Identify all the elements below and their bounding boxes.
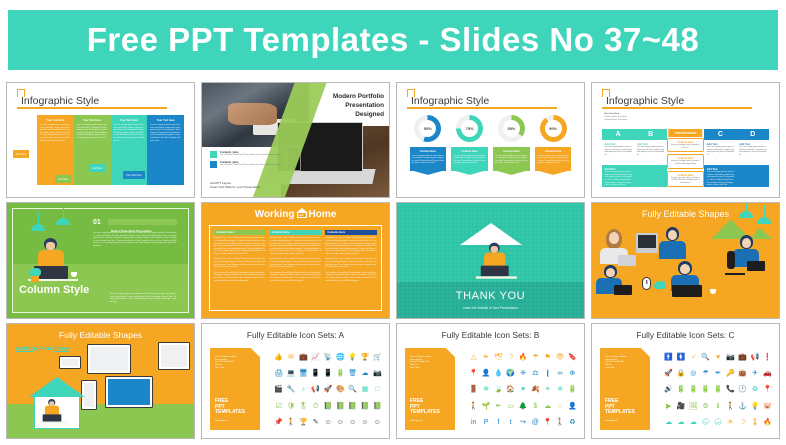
- comparison-columns: A Add Text You can simply impress your a…: [602, 129, 769, 187]
- smiley-icon[interactable]: ☺: [373, 418, 381, 426]
- title-word-working: Working: [255, 209, 295, 220]
- search-icon[interactable]: 🔍: [349, 386, 357, 394]
- slide-46-canvas: Fully Editable Icon Sets: A You can Resi…: [202, 324, 389, 438]
- settings-icon[interactable]: ⚙: [702, 402, 710, 410]
- slide-40-title: Infographic Style: [606, 95, 684, 107]
- snow-cloud-icon[interactable]: 🌨: [714, 418, 722, 426]
- slide-thumbnail-44[interactable]: Fully Editable Shapes: [591, 202, 780, 318]
- column-text: You can simply impress your audience and…: [605, 146, 632, 156]
- battery-icon[interactable]: 🔋: [689, 386, 697, 394]
- moon-icon[interactable]: ☽: [739, 418, 747, 426]
- ribbon-card: Content Here You can simply impress your…: [493, 147, 530, 171]
- laptop-device-icon: [59, 356, 81, 369]
- brand-line: TEMPLATES: [410, 410, 440, 416]
- rocket-icon[interactable]: 🚀: [324, 386, 332, 394]
- compass-icon[interactable]: △: [470, 353, 478, 361]
- pen-icon[interactable]: ✒: [714, 370, 722, 378]
- coffee-cup-icon: [710, 289, 716, 294]
- slide-thumbnail-39[interactable]: Infographic Style 55% Content Here You c…: [396, 82, 585, 198]
- person-face: [609, 232, 619, 244]
- center-card[interactable]: Content Here Easy to change colors, phot…: [667, 154, 704, 168]
- column-text: You can simply impress your audience and…: [637, 146, 664, 156]
- donut-chart: 90%: [540, 115, 567, 142]
- desk-surface: [40, 421, 68, 422]
- shopping-cart-icon[interactable]: 🛒: [373, 353, 381, 361]
- monitor-icon: [636, 233, 658, 253]
- battery-icon[interactable]: 🔋: [336, 370, 344, 378]
- person-icon[interactable]: 🚶: [556, 418, 564, 426]
- scales-icon[interactable]: ⚖: [531, 370, 539, 378]
- pencil-icon[interactable]: ✎: [312, 418, 320, 426]
- cloud-icon[interactable]: ☁: [689, 418, 697, 426]
- globe-icon[interactable]: 🌍: [507, 370, 515, 378]
- column-paragraph: Example Text : Get a modern PowerPoint P…: [325, 258, 377, 268]
- title-underline: [407, 107, 557, 109]
- network-icon[interactable]: ✵: [556, 386, 564, 394]
- column-body: You can simply impress your audience and…: [150, 124, 181, 142]
- infographic-column[interactable]: Your Text Here You can simply impress yo…: [147, 115, 184, 185]
- cloud-icon[interactable]: ☁: [361, 370, 369, 378]
- comparison-column-c[interactable]: C Add Text You can simply impress your a…: [704, 129, 736, 187]
- header-banner: Free PPT Templates - Slides No 37~48: [8, 10, 778, 70]
- person-at-laptop-illustration: [31, 238, 79, 290]
- column-tag: Text Here: [89, 164, 105, 172]
- slide-43-canvas: THANK YOU Insert the Subtitle of Your Pr…: [397, 203, 584, 317]
- flag-icon[interactable]: ⚑: [544, 353, 552, 361]
- column-text: You can simply impress your audience and…: [739, 146, 766, 156]
- camera-icon[interactable]: 📷: [373, 370, 381, 378]
- briefcase-icon[interactable]: 💼: [299, 353, 307, 361]
- phone-icon[interactable]: 📞: [726, 386, 734, 394]
- donut-item[interactable]: 55% Content Here You can simply impress …: [410, 115, 447, 171]
- plus-circle-icon[interactable]: ⊕: [568, 370, 576, 378]
- folded-corner-shape: [445, 348, 455, 358]
- square-icon[interactable]: □: [373, 386, 381, 394]
- plant-icon[interactable]: 🌱: [482, 402, 490, 410]
- dollar-icon[interactable]: $: [531, 402, 539, 410]
- column-bottom-block: Add Text You can simply impress your aud…: [602, 165, 634, 187]
- book-icon[interactable]: 📗: [324, 402, 332, 410]
- share-icon[interactable]: ↪: [519, 418, 527, 426]
- search-icon[interactable]: 🔍: [702, 353, 710, 361]
- user-icon[interactable]: 👤: [568, 402, 576, 410]
- heart-icon[interactable]: ♥: [519, 386, 527, 394]
- linkedin-icon[interactable]: in: [470, 418, 478, 426]
- wfh-word-working: Working: [15, 346, 37, 352]
- male-symbol-icon[interactable]: ♂: [689, 353, 697, 361]
- sun-icon[interactable]: ☀: [726, 418, 734, 426]
- column-letter: A: [602, 129, 634, 140]
- recycle-icon[interactable]: ♻: [751, 386, 759, 394]
- working-from-home-label: Working From Home: [15, 346, 70, 352]
- slide-thumbnail-47[interactable]: Fully Editable Icon Sets: B You can Resi…: [396, 323, 585, 439]
- slide-thumbnail-42[interactable]: WorkingFromHome Contents Here Example Te…: [201, 202, 390, 318]
- eye-icon[interactable]: 👁: [556, 353, 564, 361]
- card-icon[interactable]: ▭: [507, 402, 515, 410]
- slide-41-body: You can simply impress your audience and…: [93, 232, 177, 248]
- smiley-icon[interactable]: ☺: [349, 418, 357, 426]
- column-heading: Your Text Here: [114, 119, 145, 122]
- slide-thumbnail-38[interactable]: Modern Portfolio Presentation Designed C…: [201, 82, 390, 198]
- brand-url: www.allppt.com: [215, 420, 227, 422]
- ribbon-heading: Content Here: [412, 150, 445, 153]
- pillar-icon[interactable]: ❙: [544, 370, 552, 378]
- column-tag: Contents Here: [214, 230, 266, 235]
- office-chair-icon: [727, 251, 749, 275]
- table-note: Your Text Here Content Here Text Here Co…: [604, 113, 671, 122]
- comparison-table: Your Text Here Content Here Text Here Co…: [602, 113, 769, 187]
- megaphone-icon[interactable]: 📢: [312, 386, 320, 394]
- bookmark-icon[interactable]: 🔖: [568, 353, 576, 361]
- slide-37-title: Infographic Style: [21, 95, 99, 107]
- person-woman-laptop: [598, 229, 632, 269]
- battery-icon[interactable]: 🔋: [568, 386, 576, 394]
- person-glasses-laptop: [668, 261, 706, 299]
- megaphone-icon[interactable]: 📢: [751, 353, 759, 361]
- droplet-icon[interactable]: 💧: [494, 370, 502, 378]
- tv-device-icon: [105, 376, 153, 408]
- title-underline: [602, 107, 752, 109]
- music-icon[interactable]: ♪: [299, 386, 307, 394]
- book-icon[interactable]: 📗: [336, 402, 344, 410]
- slide-thumbnail-40[interactable]: Infographic Style Your Text Here Content…: [591, 82, 780, 198]
- ribbon-heading: Content Here: [453, 150, 486, 153]
- person-at-laptop-illustration: [41, 399, 67, 428]
- person-body: [38, 250, 64, 268]
- smiley-icon[interactable]: ☺: [324, 418, 332, 426]
- slide-46-title: Fully Editable Icon Sets: A: [202, 330, 389, 340]
- donut-item[interactable]: 35% Content Here You can simply impress …: [493, 115, 530, 171]
- thumbs-up-icon[interactable]: 👍: [275, 353, 283, 361]
- feature-row: Contents_Here Get a Modern PowerPoint Pr…: [210, 151, 300, 158]
- slide-41-title: Column Style: [19, 284, 89, 296]
- tools-icon[interactable]: 🔧: [287, 386, 295, 394]
- slide-thumbnail-grid: Infographic Style Your Text Here You can…: [6, 82, 780, 439]
- target-icon[interactable]: ◎: [689, 370, 697, 378]
- ribbon-body: You can simply impress your audience and…: [412, 155, 445, 165]
- slide-thumbnail-46[interactable]: Fully Editable Icon Sets: A You can Resi…: [201, 323, 390, 439]
- plant-icon: [29, 268, 41, 282]
- book-icon[interactable]: 📗: [361, 402, 369, 410]
- slide-44-canvas: Fully Editable Shapes: [592, 203, 779, 317]
- person-icon[interactable]: 🚶: [287, 418, 295, 426]
- slide-45-canvas: Fully Editable Shapes Working From Home: [7, 324, 194, 438]
- column-paragraph: Get a modern PowerPoint Presentation tha…: [214, 272, 266, 282]
- lamp-icon[interactable]: 💡: [751, 402, 759, 410]
- person-face: [490, 246, 497, 253]
- pendant-lamp-icon: [739, 211, 753, 218]
- donut-chart: 55%: [414, 115, 441, 142]
- thermometer-icon[interactable]: 🌡: [751, 418, 759, 426]
- slide-number-label: 01: [93, 219, 101, 226]
- monitor-icon[interactable]: 🖥: [299, 370, 307, 378]
- leaf-icon[interactable]: 🍂: [531, 386, 539, 394]
- man-icon[interactable]: 🚹: [665, 353, 673, 361]
- column-letter: C: [704, 129, 736, 140]
- ribbon-body: You can simply impress your audience and…: [495, 155, 528, 165]
- laptop-icon: [43, 414, 62, 421]
- flame-icon[interactable]: 🔥: [519, 353, 527, 361]
- column-paragraph: Example Text : Get a modern PowerPoint P…: [270, 258, 322, 268]
- slide-41-canvas: 01 Modern PowerPoint Presentation You ca…: [7, 203, 194, 317]
- info-panel: You can Resize without losing quality Yo…: [600, 348, 650, 430]
- egg-icon[interactable]: ○: [556, 402, 564, 410]
- recycle-icon[interactable]: ♻: [568, 418, 576, 426]
- card-body: Easy to change colors, photos and Text.: [671, 144, 700, 149]
- chart-icon[interactable]: 📈: [312, 353, 320, 361]
- rain-cloud-icon[interactable]: 🌧: [702, 418, 710, 426]
- slide-38-canvas: Modern Portfolio Presentation Designed C…: [202, 83, 389, 197]
- info-icon[interactable]: ℹ: [714, 402, 722, 410]
- donut-item[interactable]: 90% Content Here You can simply impress …: [535, 115, 572, 171]
- column-text: You can simply impress your audience and…: [707, 146, 734, 156]
- column-body: You can simply impress your audience and…: [77, 124, 108, 140]
- book-icon[interactable]: 📗: [349, 402, 357, 410]
- play-icon[interactable]: ▶: [665, 402, 673, 410]
- trophy-icon[interactable]: 🏆: [361, 353, 369, 361]
- checkbox-icon[interactable]: ☑: [275, 402, 283, 410]
- pin-icon[interactable]: 📌: [275, 418, 283, 426]
- slide-37-canvas: Infographic Style Your Text Here You can…: [11, 87, 190, 193]
- palette-icon[interactable]: 🎨: [336, 386, 344, 394]
- map-pin-icon[interactable]: 📍: [544, 418, 552, 426]
- person-man-desktop: [658, 227, 688, 265]
- moon-icon[interactable]: ☽: [507, 353, 515, 361]
- card-body: Easy to change colors, photos and Text a…: [671, 160, 700, 165]
- trash-icon[interactable]: 🗑: [349, 370, 357, 378]
- car-icon[interactable]: 🚗: [763, 370, 771, 378]
- infinity-icon[interactable]: ∞: [556, 370, 564, 378]
- roof-shape: [454, 219, 528, 245]
- feature-list: Contents_Here Get a Modern PowerPoint Pr…: [210, 151, 300, 171]
- slide-thumbnail-41[interactable]: 01 Modern PowerPoint Presentation You ca…: [6, 202, 195, 318]
- icon-grid-b: △✒🕊☽🔥☂⚑👁🔖📍👤💧🌍❈⚖❙∞⊕🚪❄🍃🏠♥🍂☀✵🔋🚶🌱✒▭🌲$☁○👤inPf…: [468, 350, 578, 430]
- slide-thumbnail-43[interactable]: THANK YOU Insert the Subtitle of Your Pr…: [396, 202, 585, 318]
- grid-icon[interactable]: ▦: [361, 386, 369, 394]
- cloud-icon[interactable]: ☁: [544, 402, 552, 410]
- ribbon-body: You can simply impress your audience and…: [537, 155, 570, 165]
- sun-icon[interactable]: ☀: [544, 386, 552, 394]
- column-letter: D: [737, 129, 769, 140]
- slide-47-canvas: Fully Editable Icon Sets: B You can Resi…: [397, 324, 584, 438]
- pinterest-icon[interactable]: P: [482, 418, 490, 426]
- alert-icon[interactable]: ❗: [763, 353, 771, 361]
- phone-icon[interactable]: 📱: [324, 370, 332, 378]
- text-column[interactable]: Contents Here Example Text : Get a moder…: [214, 230, 266, 305]
- person-office-chair: [731, 235, 767, 279]
- laptop-icon: [672, 285, 702, 297]
- desk-surface: [476, 276, 517, 278]
- slide-38-footer: ALLPPT Layout Clean Text Slide for your …: [210, 181, 260, 190]
- person-icon[interactable]: 🚶: [726, 402, 734, 410]
- person-man-laptop: [596, 265, 632, 299]
- flame-icon[interactable]: 🔥: [763, 418, 771, 426]
- column-bottom-block: [634, 165, 666, 187]
- globe-icon[interactable]: 🌐: [336, 353, 344, 361]
- lightbulb-icon[interactable]: 💡: [349, 353, 357, 361]
- slide-39-canvas: Infographic Style 55% Content Here You c…: [401, 87, 580, 193]
- donut-chart-row: 55% Content Here You can simply impress …: [407, 115, 574, 171]
- column-paragraph: Example Text : Get a modern PowerPoint P…: [214, 237, 266, 255]
- house-illustration: [29, 377, 85, 429]
- comparison-column-b[interactable]: B Add Text You can simply impress your a…: [634, 129, 666, 187]
- section-bar: Modern PowerPoint Presentation: [108, 219, 177, 225]
- thank-you-title: THANK YOU: [397, 290, 584, 302]
- column-body-block: Add Text You can simply impress your aud…: [737, 140, 769, 159]
- head-icon[interactable]: 👤: [482, 370, 490, 378]
- brand-line: TEMPLATES: [605, 410, 635, 416]
- person-face: [742, 238, 751, 248]
- folded-corner-shape: [250, 348, 260, 358]
- video-icon[interactable]: 🎥: [677, 402, 685, 410]
- brand-line: TEMPLATES: [215, 410, 245, 416]
- smiley-icon[interactable]: ☺: [361, 418, 369, 426]
- person-icon[interactable]: 🚶: [470, 402, 478, 410]
- book-icon[interactable]: 📗: [373, 402, 381, 410]
- woman-icon[interactable]: 🚺: [677, 353, 685, 361]
- person-face: [606, 268, 615, 277]
- column-tag: Contents Here: [270, 230, 322, 235]
- tree-icon[interactable]: 🌲: [519, 402, 527, 410]
- location-pin-icon[interactable]: 📍: [470, 370, 478, 378]
- slide-45-title: Fully Editable Shapes: [7, 330, 194, 340]
- facebook-icon[interactable]: f: [494, 418, 502, 426]
- map-pin-icon[interactable]: 📍: [763, 386, 771, 394]
- shield-icon[interactable]: 🛡: [287, 402, 295, 410]
- battery-icon[interactable]: 🔋: [714, 386, 722, 394]
- text-column[interactable]: Contents Here Example Text : Get a moder…: [325, 230, 377, 305]
- center-card[interactable]: Content Here Easy to change colors, phot…: [667, 171, 704, 188]
- clock-icon[interactable]: 🕐: [739, 386, 747, 394]
- page-title: Free PPT Templates - Slides No 37~48: [87, 21, 700, 59]
- donut-chart: 35%: [498, 115, 525, 142]
- title-underline: [17, 107, 167, 109]
- anchor-icon[interactable]: ⚓: [739, 402, 747, 410]
- slide-thumbnail-37[interactable]: Infographic Style Your Text Here You can…: [6, 82, 195, 198]
- feather-icon[interactable]: ✒: [482, 353, 490, 361]
- comparison-column-d[interactable]: D Add Text You can simply impress your a…: [737, 129, 769, 187]
- column-paragraph: Get a modern PowerPoint Presentation tha…: [325, 272, 377, 282]
- leaf-icon[interactable]: 🍃: [494, 386, 502, 394]
- infographic-column[interactable]: Your Text Here You can simply impress yo…: [74, 115, 111, 185]
- text-column[interactable]: Contents Here Example Text : Get a moder…: [270, 230, 322, 305]
- award-icon[interactable]: 🎖: [299, 402, 307, 410]
- house-icon-label: From: [298, 214, 304, 217]
- slide-42-canvas: WorkingFromHome Contents Here Example Te…: [202, 203, 389, 317]
- column-tag: Your Text Here: [123, 171, 145, 179]
- signal-icon[interactable]: 📡: [324, 353, 332, 361]
- briefcase-icon[interactable]: 💼: [739, 353, 747, 361]
- panel-text: You can Resize without losing quality Yo…: [215, 356, 248, 371]
- person-face: [668, 230, 677, 240]
- cloud-icon[interactable]: ☁: [677, 418, 685, 426]
- door-icon[interactable]: 🚪: [470, 386, 478, 394]
- feature-desc: Get a Modern PowerPoint Presentation tha…: [220, 154, 279, 157]
- donut-item[interactable]: 75% Content Here You can simply impress …: [451, 115, 488, 171]
- image-icon[interactable]: 🖼: [689, 402, 697, 410]
- center-card[interactable]: Content Here Easy to change colors, phot…: [667, 138, 704, 152]
- smiley-icon[interactable]: ☺: [336, 418, 344, 426]
- rocket-icon[interactable]: 🚀: [665, 370, 673, 378]
- at-icon[interactable]: @: [531, 418, 539, 426]
- donut-percent: 55%: [424, 126, 432, 131]
- ribbon-card: Content Here You can simply impress your…: [410, 147, 447, 171]
- camera-icon[interactable]: 📷: [726, 353, 734, 361]
- battery-icon[interactable]: 🔋: [702, 386, 710, 394]
- slide-42-title: WorkingFromHome: [202, 208, 389, 220]
- wfh-word-home: Home: [54, 346, 70, 352]
- laptop-icon[interactable]: 💻: [287, 370, 295, 378]
- comparison-column-a[interactable]: A Add Text You can simply impress your a…: [602, 129, 634, 187]
- icon-grid-c: 🚹🚺♂🔍♥📷💼📢❗🚀🔒◎☂✒🔑👜✈🚗🔊🔋🔋🔋🔋📞🕐♻📍▶🎥🖼⚙ℹ🚶⚓💡🐷☁☁☁🌧…: [663, 350, 773, 430]
- trophy-icon[interactable]: 🏆: [299, 418, 307, 426]
- plane-icon[interactable]: ✈: [751, 370, 759, 378]
- twitter-icon[interactable]: t: [507, 418, 515, 426]
- clock-icon[interactable]: ⏱: [312, 402, 320, 410]
- wfh-word-from: From: [39, 346, 53, 352]
- panel-line: Line Color: [410, 367, 443, 370]
- puzzle-icon: [210, 161, 217, 168]
- pig-icon[interactable]: 🐷: [763, 402, 771, 410]
- film-icon[interactable]: 🎬: [275, 386, 283, 394]
- key-icon[interactable]: 🔑: [726, 370, 734, 378]
- speaker-icon[interactable]: 🔊: [665, 386, 673, 394]
- column-tag: Contents Here: [325, 230, 377, 235]
- note-line: Content Here Text Here: [604, 119, 671, 122]
- slide-47-title: Fully Editable Icon Sets: B: [397, 330, 584, 340]
- feature-desc: Get a Modern PowerPoint Presentation tha…: [220, 164, 279, 167]
- column-heading: Your Text Here: [77, 119, 108, 122]
- umbrella-icon[interactable]: ☂: [531, 353, 539, 361]
- home-icon[interactable]: 🏠: [507, 386, 515, 394]
- laptop-icon: [614, 285, 632, 295]
- lock-icon[interactable]: 🔒: [677, 370, 685, 378]
- feature-row: Contents_Here Get a Modern PowerPoint Pr…: [210, 161, 300, 168]
- pendant-lamp-icon: [56, 218, 70, 225]
- content-panel: Contents Here Example Text : Get a moder…: [209, 225, 382, 310]
- comparison-center-column: PRESENTATION Content Here Easy to change…: [667, 129, 704, 187]
- info-panel: You can Resize without losing quality Yo…: [405, 348, 455, 430]
- printer-icon[interactable]: 🖨: [275, 370, 283, 378]
- tablet-icon[interactable]: 📱: [312, 370, 320, 378]
- wings-icon[interactable]: ❈: [519, 370, 527, 378]
- title-word-home: Home: [309, 209, 337, 220]
- panel-text: You can Resize without losing quality Yo…: [410, 356, 443, 371]
- slide-thumbnail-45[interactable]: Fully Editable Shapes Working From Home: [6, 323, 195, 439]
- snowflake-icon[interactable]: ❄: [482, 386, 490, 394]
- slide-38-title: Modern Portfolio Presentation Designed: [287, 92, 384, 119]
- umbrella-icon[interactable]: ☂: [702, 370, 710, 378]
- panel-text: You can Resize without losing quality Yo…: [605, 356, 638, 371]
- slide-48-canvas: Fully Editable Icon Sets: C You can Resi…: [592, 324, 779, 438]
- column-paragraph: Example Text : Get a modern PowerPoint P…: [270, 237, 322, 255]
- presentation-template-preview-page: Free PPT Templates - Slides No 37~48 Inf…: [0, 0, 786, 445]
- column-paragraph: Get a modern PowerPoint Presentation tha…: [270, 272, 322, 282]
- bird-icon[interactable]: 🕊: [494, 353, 502, 361]
- pen-icon[interactable]: ✒: [494, 402, 502, 410]
- heart-icon[interactable]: ♥: [714, 353, 722, 361]
- donut-percent: 90%: [549, 126, 557, 131]
- bag-icon[interactable]: 👜: [739, 370, 747, 378]
- column-paragraph: Example Text : Get a modern PowerPoint P…: [214, 258, 266, 268]
- cloud-icon[interactable]: ☁: [665, 418, 673, 426]
- person-face: [680, 264, 690, 274]
- brand-url: www.allppt.com: [605, 420, 617, 422]
- envelope-icon[interactable]: ✉: [287, 353, 295, 361]
- column-heading: Your Text Here: [150, 119, 181, 122]
- slide-thumbnail-48[interactable]: Fully Editable Icon Sets: C You can Resi…: [591, 323, 780, 439]
- battery-icon[interactable]: 🔋: [677, 386, 685, 394]
